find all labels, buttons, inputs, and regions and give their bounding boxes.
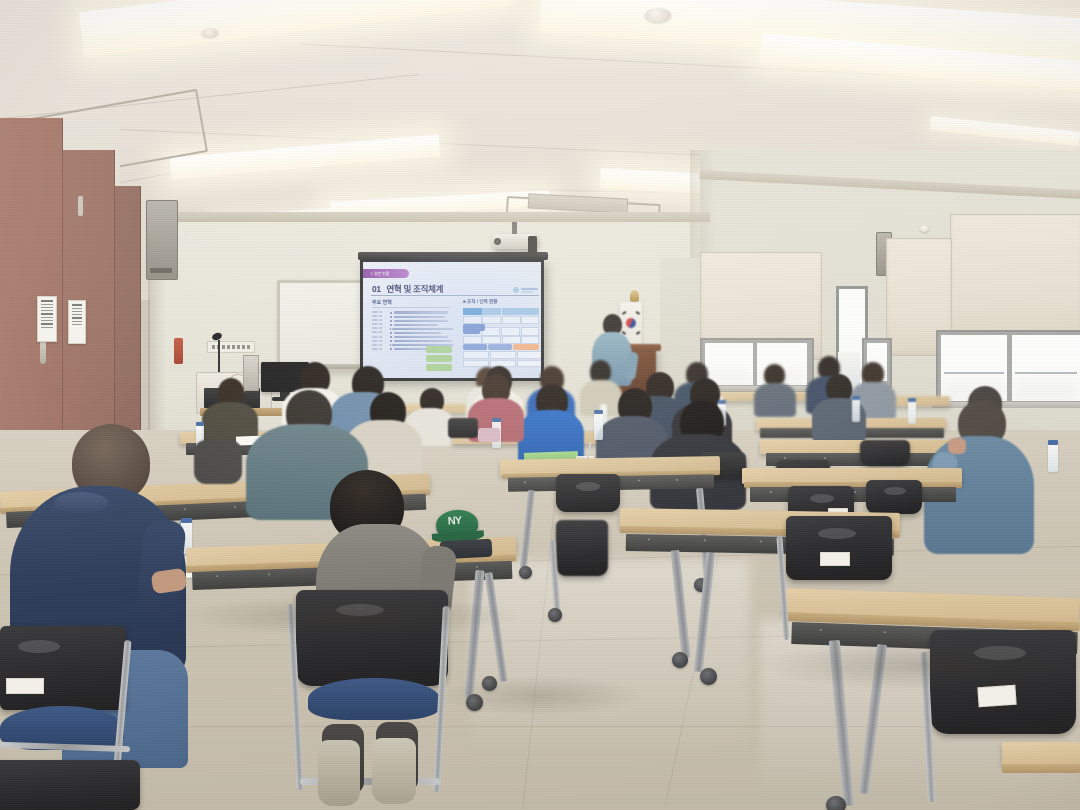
slide-right-heading: ■ 조직 / 인력 현황 [463, 299, 498, 305]
table-row [463, 336, 539, 344]
timeline-row: 2016. 09 [372, 336, 454, 339]
timeline-bullet-icon [390, 336, 392, 338]
wall-notice [37, 296, 57, 342]
projection-screen: I. 일반 현황 01 연혁 및 조직체계 주요 연혁 1998. 042001… [360, 259, 544, 381]
timeline-row: 2010. 08 [372, 327, 454, 330]
polo-collar [54, 492, 108, 514]
desk [1002, 742, 1080, 766]
chair-seat [308, 678, 440, 720]
slide-tab-label: I. 일반 현황 [363, 269, 409, 278]
wall-notice [68, 300, 86, 344]
attendee-hand [948, 438, 966, 454]
door-hinge [78, 196, 83, 216]
timeline-row: 2001. 06 [372, 315, 454, 318]
timeline-text [394, 311, 448, 313]
timeline-text [394, 320, 448, 322]
window-blind[interactable] [950, 214, 1080, 342]
timeline-date: 2019. 02 [372, 340, 388, 343]
attendee-shoe [372, 738, 416, 804]
pouch [478, 428, 500, 442]
desk-shadow [180, 596, 520, 636]
window [936, 330, 1080, 408]
timeline-bullet-icon [390, 340, 392, 342]
chair[interactable] [556, 474, 620, 512]
fire-extinguisher [174, 338, 183, 364]
timeline-bullet-icon [390, 324, 392, 326]
timeline-text [394, 336, 448, 338]
projector-cable [528, 236, 537, 255]
slide-logo [513, 286, 539, 294]
desk-caster [700, 668, 717, 685]
slide-badge [426, 346, 452, 353]
speaker-grille [150, 268, 172, 273]
desk-caster [519, 566, 532, 579]
light-switch-panel[interactable] [207, 341, 255, 353]
timeline-row: 1998. 04 [372, 311, 454, 314]
window-glass [1012, 335, 1080, 401]
timeline-date: 2010. 08 [372, 327, 388, 330]
cap-logo-text: NY [447, 516, 461, 528]
timeline-row: 2007. 03 [372, 323, 454, 326]
timeline-text [392, 328, 454, 330]
chair[interactable] [0, 626, 126, 710]
timeline-date: 2007. 03 [372, 323, 388, 326]
timeline-date: 2001. 06 [372, 315, 388, 318]
timeline-bullet-icon [390, 320, 392, 322]
water-bottle [1048, 440, 1058, 472]
slide-org-chart [463, 344, 541, 367]
table-subheader-row [463, 316, 539, 324]
table-header-row [463, 308, 539, 315]
slide-section-tab: I. 일반 현황 [363, 269, 409, 278]
slide-badge [426, 355, 452, 362]
slide-divider [371, 295, 539, 296]
flag-finial [630, 290, 639, 302]
flag-taeguk [625, 317, 638, 330]
ceiling-soffit [150, 212, 710, 222]
bag [448, 418, 478, 438]
timeline-bullet-icon [390, 332, 392, 334]
chair[interactable] [786, 516, 892, 580]
timeline-text [394, 340, 452, 342]
microphone-stand [218, 340, 220, 372]
projector-lens-icon [494, 238, 501, 245]
desk-shadow [760, 640, 1080, 690]
desk-edge [1002, 764, 1080, 773]
timeline-date: 1998. 04 [372, 311, 388, 314]
water-bottle [594, 410, 603, 440]
presentation-slide: I. 일반 현황 01 연혁 및 조직체계 주요 연혁 1998. 042001… [363, 262, 541, 378]
window-rail [944, 372, 1004, 374]
attendee-shoulder [194, 440, 242, 484]
smoke-detector-icon [645, 8, 671, 22]
slide-number: 01 [372, 284, 381, 294]
timeline-text [394, 324, 438, 326]
desk-caster [672, 652, 688, 668]
timeline-bullet-icon [390, 312, 392, 314]
window-glass [705, 343, 753, 385]
chair[interactable] [860, 440, 910, 466]
timeline-date: 2023. 12 [372, 348, 388, 351]
chair[interactable] [866, 480, 922, 514]
chair-caster [548, 608, 562, 622]
desk-caster [826, 796, 846, 810]
timeline-row: 2019. 02 [372, 340, 454, 343]
window-rail [1015, 372, 1077, 374]
window-sill [932, 402, 1080, 408]
slide-badge [426, 364, 452, 371]
timeline-bullet-icon [390, 316, 392, 318]
timeline-date: 2016. 09 [372, 336, 388, 339]
desk-shadow [440, 676, 640, 716]
seminar-room-photo: I. 일반 현황 01 연혁 및 조직체계 주요 연혁 1998. 042001… [0, 0, 1080, 810]
water-bottle [852, 396, 860, 422]
slide-left-heading: 주요 연혁 [372, 299, 392, 306]
slide-title-row: 01 연혁 및 조직체계 [372, 283, 443, 295]
timeline-bullet-icon [390, 348, 392, 350]
sensor-icon [920, 225, 929, 232]
slide-badge [463, 324, 485, 331]
chair[interactable] [0, 760, 140, 810]
timeline-text [394, 332, 441, 334]
smoke-detector-icon [202, 28, 218, 37]
chair[interactable] [556, 520, 608, 576]
slide-divider [372, 307, 450, 308]
timeline-date: 2013. 05 [372, 331, 388, 334]
water-bottle [908, 398, 916, 424]
timeline-date: 2021. 07 [372, 344, 388, 347]
timeline-text [394, 316, 445, 318]
timeline-date: 2004. 11 [372, 319, 388, 322]
timeline-row: 2004. 11 [372, 319, 454, 322]
slide-title: 연혁 및 조직체계 [386, 284, 443, 294]
timeline-row: 2013. 05 [372, 331, 454, 334]
attendee-shoe [318, 740, 360, 806]
attendee-torso [754, 383, 796, 417]
